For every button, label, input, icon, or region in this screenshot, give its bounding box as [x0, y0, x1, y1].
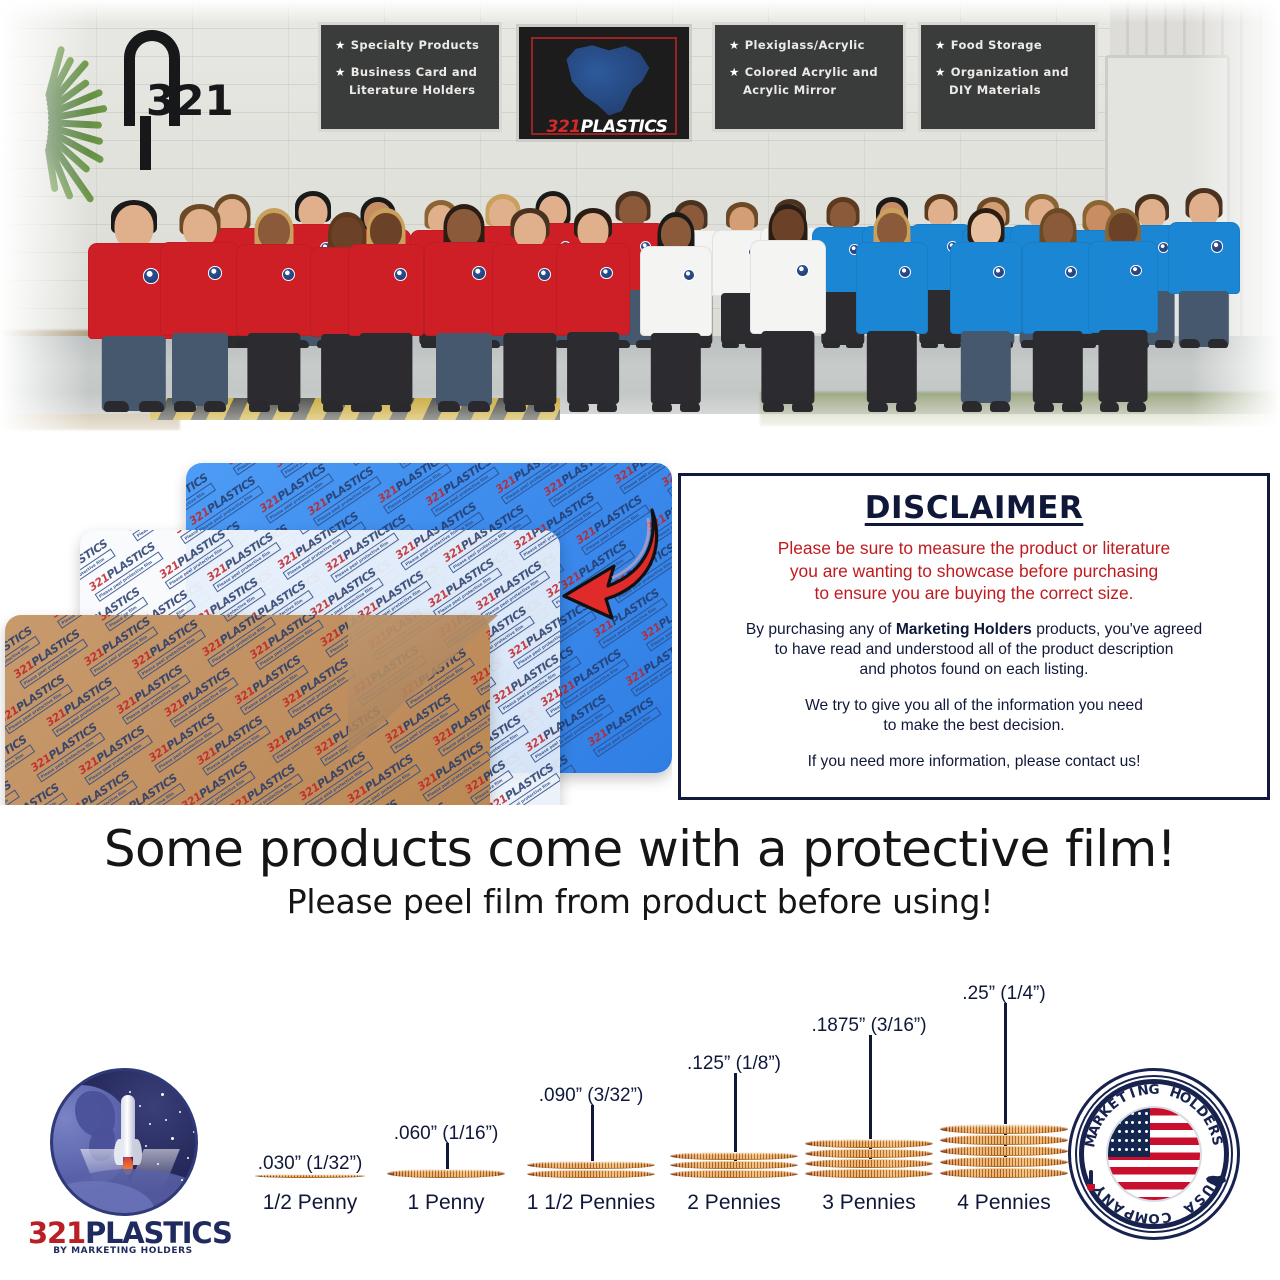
watermark-item: 321PLASTICSPlease peel protective film [43, 675, 120, 737]
sign-line: Acrylic Mirror [743, 83, 837, 97]
watermark-item: 321PLASTICSPlease peel protective film [187, 474, 264, 536]
penny-caption: 3 Pennies [822, 1191, 915, 1215]
watermark-item: 321PLASTICSPlease peel protective film [186, 471, 216, 533]
watermark-item: 321PLASTICSPlease peel protective film [462, 742, 490, 804]
sign-line: Specialty Products [351, 38, 480, 52]
team-member [160, 207, 240, 411]
watermark-item: 321PLASTICSPlease peel protective film [264, 701, 341, 763]
para2-line: to make the best decision. [697, 716, 1251, 736]
logo-321-wordmark: 321PLASTICS [28, 1216, 218, 1250]
penny-coin [670, 1152, 798, 1160]
penny-scale-column: .090” (3/32”)1 1/2 Pennies [512, 975, 670, 1215]
team-member [1022, 211, 1094, 411]
watermark-item: 321PLASTICSPlease peel protective film [430, 694, 490, 756]
penny-scale-column: .25” (1/4”)4 Pennies [925, 975, 1083, 1215]
penny-coin [805, 1159, 933, 1168]
para2-line: We try to give you all of the informatio… [697, 696, 1251, 716]
watermark-item: 321PLASTICSPlease peel protective film [511, 530, 560, 561]
watermark-item: 321PLASTICSPlease peel protective film [323, 530, 400, 583]
watermark-item: 321PLASTICSPlease peel protective film [296, 749, 373, 805]
watermark-item: 321PLASTICSPlease peel protective film [375, 463, 452, 514]
watermark-item: 321PLASTICSPlease peel protective film [178, 759, 255, 805]
star-icon [179, 1111, 181, 1113]
watermark-item: 321PLASTICSPlease peel protective film [124, 530, 201, 542]
penny-caption: 1 Penny [407, 1191, 484, 1215]
headline-primary: Some products come with a protective fil… [0, 822, 1280, 876]
watermark-item: 321PLASTICSPlease peel protective film [86, 540, 163, 602]
sign-line: Organization and [951, 65, 1069, 79]
watermark-item: 321PLASTICSPlease peel protective film [5, 781, 67, 805]
watermark-item: 321PLASTICSPlease peel protective film [204, 530, 281, 592]
watermark-item: 321PLASTICSPlease peel protective film [376, 800, 453, 805]
disclaimer-title: DISCLAIMER [697, 490, 1251, 526]
penny-coin [940, 1146, 1068, 1156]
star-icon [171, 1137, 174, 1140]
watermark-item: 321PLASTICSPlease peel protective film [585, 695, 662, 757]
penny-scale-column: .060” (1/16”)1 Penny [372, 975, 520, 1215]
disclaimer-paragraph-3: If you need more information, please con… [697, 752, 1251, 772]
watermark-item: 321PLASTICSPlease peel protective film [80, 537, 116, 599]
watermark-item: 321PLASTICSPlease peel protective film [113, 663, 190, 725]
watermark-item: 321PLASTICSPlease peel protective film [257, 463, 334, 524]
watermark-item: 321PLASTICSPlease peel protective film [5, 624, 40, 686]
store-sign-food-storage: ★Food Storage ★Organization and DIY Mate… [918, 22, 1098, 132]
team-member [236, 211, 312, 411]
window-sign-number: 321 [547, 117, 581, 137]
team-member [1088, 211, 1158, 411]
watermark-item: 321PLASTICSPlease peel protective film [659, 463, 672, 497]
wall-logo-text: 321 [146, 76, 234, 125]
team-member [556, 211, 630, 411]
star-icon [145, 1145, 147, 1147]
watermark-item: 321PLASTICSPlease peel protective film [75, 723, 152, 785]
watermark-item: 321PLASTICSPlease peel protective film [60, 769, 137, 805]
star-icon [187, 1157, 189, 1159]
penny-caption: 2 Pennies [687, 1191, 780, 1215]
watermark-item: 321PLASTICSPlease peel protective film [523, 700, 560, 762]
penny-stack [387, 1169, 505, 1179]
headline-block: Some products come with a protective fil… [0, 822, 1280, 921]
penny-coin [805, 1139, 933, 1148]
disclaimer-paragraph-1: By purchasing any of Marketing Holders p… [697, 620, 1251, 681]
watermark-item: 321PLASTICSPlease peel protective film [423, 463, 500, 517]
para1-post: products, you've agreed [1032, 621, 1202, 638]
watermark-item: 321PLASTICSPlease peel protective film [671, 637, 672, 699]
watermark-item: 321PLASTICSPlease peel protective film [225, 463, 302, 476]
watermark-item: 321PLASTICSPlease peel protective film [329, 797, 406, 805]
badge-letter: C [1160, 1208, 1173, 1226]
watermark-item: 321PLASTICSPlease peel protective film [242, 530, 319, 532]
badge-bottom-text: USA COMPANY [1068, 1068, 1240, 1240]
watermark-item: 321PLASTICSPlease peel protective film [5, 733, 34, 795]
team-photo: 321 ★Specialty Products ★Business Card a… [0, 0, 1280, 455]
penny-stack [527, 1161, 655, 1179]
watermark-item: 321PLASTICSPlease peel protective film [28, 720, 105, 782]
team-member [640, 215, 712, 411]
star-icon [157, 1163, 159, 1165]
watermark-item: 321PLASTICSPlease peel protective film [81, 615, 158, 677]
watermark-item: 321PLASTICSPlease peel protective film [275, 530, 352, 580]
star-icon [193, 1131, 195, 1133]
penny-coin [805, 1169, 933, 1178]
watermark-item: 321PLASTICSPlease peel protective film [199, 615, 276, 667]
watermark-item: 321PLASTICSPlease peel protective film [425, 556, 502, 618]
penny-coin [255, 1174, 365, 1178]
penny-dimension-label: .060” (1/16”) [394, 1123, 499, 1145]
team-member [348, 211, 424, 411]
watermark-item: 321PLASTICSPlease peel protective film [129, 617, 206, 679]
team-member [1168, 191, 1240, 347]
penny-caption: 1 1/2 Pennies [527, 1191, 655, 1215]
watermark-item: 321PLASTICSPlease peel protective film [538, 655, 560, 717]
sign-line: Business Card and [351, 65, 478, 79]
logo-321-plastics: 321PLASTICS BY MARKETING HOLDERS [28, 1068, 218, 1240]
sign-line: Food Storage [951, 38, 1042, 52]
watermark-item: 321PLASTICSPlease peel protective film [553, 647, 630, 709]
page-root: 321 ★Specialty Products ★Business Card a… [0, 0, 1280, 1280]
sign-line: DIY Materials [949, 83, 1041, 97]
penny-scale-column: .030” (1/32”)1/2 Penny [240, 975, 380, 1215]
watermark-item: 321PLASTICSPlease peel protective film [441, 530, 518, 573]
star-icon [161, 1093, 164, 1096]
watermark-item: 321PLASTICSPlease peel protective film [247, 615, 324, 670]
wall-rocket-logo: 321 [120, 30, 190, 170]
penny-leader-line [591, 1105, 594, 1167]
warning-line: Please be sure to measure the product or… [697, 537, 1251, 560]
penny-coin [940, 1135, 1068, 1145]
penny-coin [387, 1169, 505, 1178]
watermark-item: 321PLASTICSPlease peel protective film [172, 530, 249, 544]
watermark-item: 321PLASTICSPlease peel protective film [108, 771, 185, 805]
penny-coin [940, 1124, 1068, 1134]
watermark-item: 321PLASTICSPlease peel protective film [493, 463, 570, 504]
disclaimer-box: DISCLAIMER Please be sure to measure the… [678, 473, 1270, 800]
penny-caption: 1/2 Penny [263, 1191, 358, 1215]
watermark-item: 321PLASTICSPlease peel protective film [391, 463, 468, 469]
penny-coin [670, 1161, 798, 1169]
watermark-item: 321PLASTICSPlease peel protective film [161, 665, 238, 727]
red-curved-arrow-icon [556, 500, 660, 620]
watermark-item: 321PLASTICSPlease peel protective film [5, 672, 72, 734]
team-member [856, 211, 928, 411]
team-member [750, 207, 826, 411]
watermark-item: 321PLASTICSPlease peel protective film [226, 762, 303, 805]
penny-coin [527, 1170, 655, 1178]
store-sign-plexiglass: ★Plexiglass/Acrylic ★Colored Acrylic and… [712, 22, 906, 132]
watermark-item: 321PLASTICSPlease peel protective film [48, 615, 125, 629]
penny-dimension-label: .030” (1/32”) [258, 1153, 363, 1175]
storefront-window-sign: 321PLASTICS [516, 24, 692, 142]
watermark-item: 321PLASTICSPlease peel protective film [167, 615, 244, 619]
watermark-item: 321PLASTICSPlease peel protective film [11, 627, 88, 689]
sign-line: Plexiglass/Acrylic [745, 38, 865, 52]
watermark-item: 321PLASTICSPlease peel protective film [5, 778, 19, 805]
logo-marketing-holders-badge: MARKETING HOLDERS USA COMPANY [1068, 1068, 1240, 1240]
star-icon [165, 1119, 167, 1121]
watermark-item: 321PLASTICSPlease peel protective film [96, 615, 173, 632]
watermark-item: 321PLASTICSPlease peel protective film [447, 788, 490, 805]
penny-dimension-label: .090” (3/32”) [539, 1085, 644, 1107]
watermark-item: 321PLASTICSPlease peel protective film [473, 559, 550, 621]
penny-caption: 4 Pennies [957, 1191, 1050, 1215]
watermark-item: 321PLASTICSPlease peel protective film [414, 740, 490, 802]
para1-line: to have read and understood all of the p… [697, 640, 1251, 660]
penny-stack [805, 1139, 933, 1179]
watermark-item: 321PLASTICSPlease peel protective film [468, 634, 490, 696]
sign-line: Colored Acrylic and [745, 65, 878, 79]
penny-coin [805, 1149, 933, 1158]
watermark-item: 321PLASTICSPlease peel protective film [393, 530, 470, 570]
watermark-item: 321PLASTICSPlease peel protective film [290, 530, 367, 535]
penny-stack [255, 1174, 365, 1179]
penny-coin [940, 1157, 1068, 1167]
store-sign-specialty: ★Specialty Products ★Business Card and L… [318, 22, 502, 132]
penny-leader-line [446, 1143, 449, 1169]
watermark-item: 321PLASTICSPlease peel protective film [146, 711, 223, 773]
penny-stack [670, 1152, 798, 1179]
penny-coin [527, 1161, 655, 1169]
palm-plant [0, 25, 108, 215]
warning-line: to ensure you are buying the correct siz… [697, 582, 1251, 605]
penny-dimension-label: .1875” (3/16”) [811, 1015, 926, 1037]
watermark-item: 321PLASTICSPlease peel protective film [305, 464, 382, 526]
warning-line: you are wanting to showcase before purch… [697, 560, 1251, 583]
team-member [950, 211, 1022, 411]
sign-line: Literature Holders [349, 83, 475, 97]
disclaimer-warning: Please be sure to measure the product or… [697, 537, 1251, 605]
badge-letter: O [1148, 1210, 1159, 1226]
penny-coin [940, 1168, 1068, 1178]
disclaimer-paragraph-2: We try to give you all of the informatio… [697, 696, 1251, 737]
para1-pre: By purchasing any of [746, 621, 896, 638]
window-sign-word: PLASTICS [581, 117, 668, 137]
watermark-item: 321PLASTICSPlease peel protective film [505, 607, 560, 669]
penny-stack [940, 1124, 1068, 1179]
logo-321-tagline: BY MARKETING HOLDERS [28, 1246, 218, 1256]
para1-bold: Marketing Holders [896, 621, 1032, 638]
watermark-item: 321PLASTICSPlease peel protective film [273, 463, 350, 478]
watermark-item: 321PLASTICSPlease peel protective film [611, 463, 672, 495]
watermark-item: 321PLASTICSPlease peel protective film [279, 656, 356, 718]
watermark-item: 321PLASTICSPlease peel protective film [194, 714, 271, 776]
logo-321-number: 321 [28, 1216, 85, 1250]
watermark-item: 321PLASTICSPlease peel protective film [214, 615, 291, 622]
penny-dimension-label: .25” (1/4”) [962, 983, 1045, 1005]
penny-dimension-label: .125” (1/8”) [687, 1053, 781, 1075]
penny-coin [670, 1170, 798, 1178]
watermark-item: 321PLASTICSPlease peel protective film [343, 463, 420, 466]
headline-secondary: Please peel film from product before usi… [0, 882, 1280, 921]
star-icon [149, 1123, 151, 1125]
watermark-item: 321PLASTICSPlease peel protective film [157, 530, 234, 590]
watermark-item: 321PLASTICSPlease peel protective film [623, 634, 672, 696]
logo-321-word: PLASTICS [85, 1216, 232, 1250]
star-icon [129, 1091, 131, 1093]
watermark-item: 321PLASTICSPlease peel protective film [231, 653, 308, 715]
star-icon [181, 1179, 183, 1181]
para1-line: and photos found on each listing. [697, 660, 1251, 680]
logo-321-emblem [50, 1068, 198, 1216]
star-icon [139, 1105, 141, 1107]
watermark-item: 321PLASTICSPlease peel protective film [344, 752, 421, 805]
watermark-item: 321PLASTICSPlease peel protective film [490, 652, 560, 714]
watermark-item: 321PLASTICSPlease peel protective film [485, 761, 560, 805]
